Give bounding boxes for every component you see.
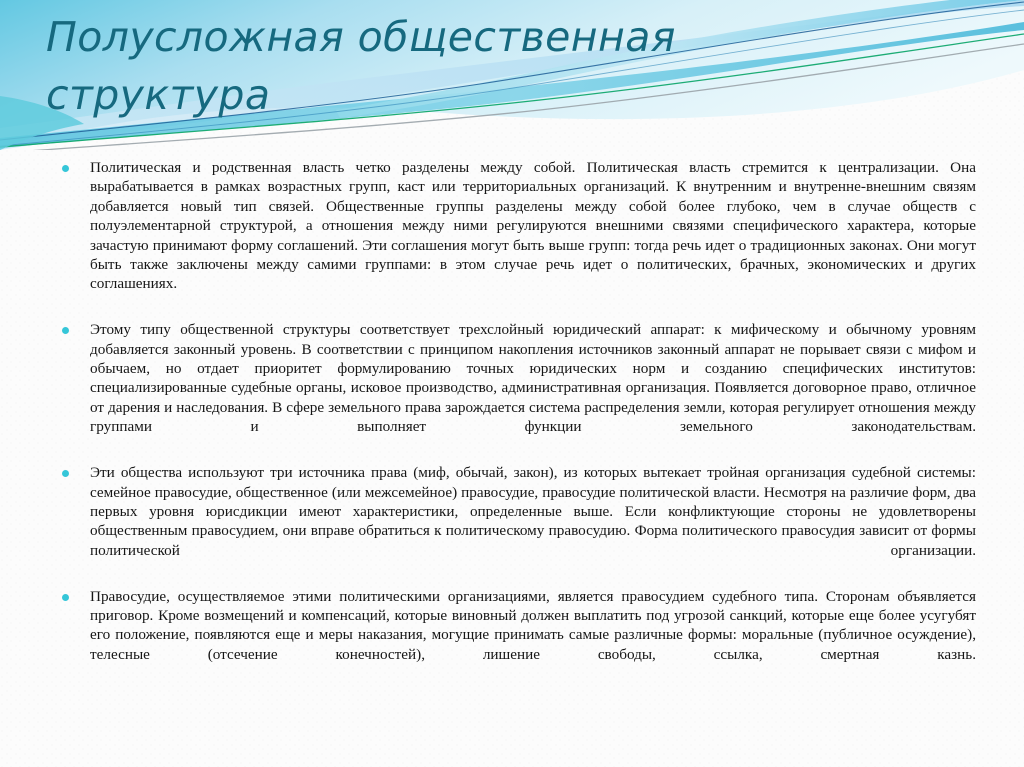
bullet-item: Этому типу общественной структуры соотве… bbox=[56, 320, 976, 456]
bullet-dot-icon bbox=[62, 327, 69, 334]
bullet-dot-icon bbox=[62, 470, 69, 477]
presentation-slide: Полусложная общественная структура Полит… bbox=[0, 0, 1024, 767]
slide-title-line-2: структура bbox=[46, 66, 846, 124]
bullet-paragraph-4: Правосудие, осуществляемое этими политич… bbox=[90, 587, 976, 684]
bullet-item: Эти общества используют три источника пр… bbox=[56, 463, 976, 579]
bullet-item: Политическая и родственная власть четко … bbox=[56, 158, 976, 313]
bullet-paragraph-2: Этому типу общественной структуры соотве… bbox=[90, 320, 976, 456]
bullet-dot-icon bbox=[62, 594, 69, 601]
bullet-item: Правосудие, осуществляемое этими политич… bbox=[56, 587, 976, 684]
bullet-paragraph-1: Политическая и родственная власть четко … bbox=[90, 158, 976, 313]
bullet-dot-icon bbox=[62, 165, 69, 172]
slide-body: Политическая и родственная власть четко … bbox=[56, 158, 976, 691]
slide-title-line-1: Полусложная общественная bbox=[46, 8, 846, 66]
slide-title: Полусложная общественная структура bbox=[46, 8, 846, 124]
bullet-paragraph-3: Эти общества используют три источника пр… bbox=[90, 463, 976, 579]
